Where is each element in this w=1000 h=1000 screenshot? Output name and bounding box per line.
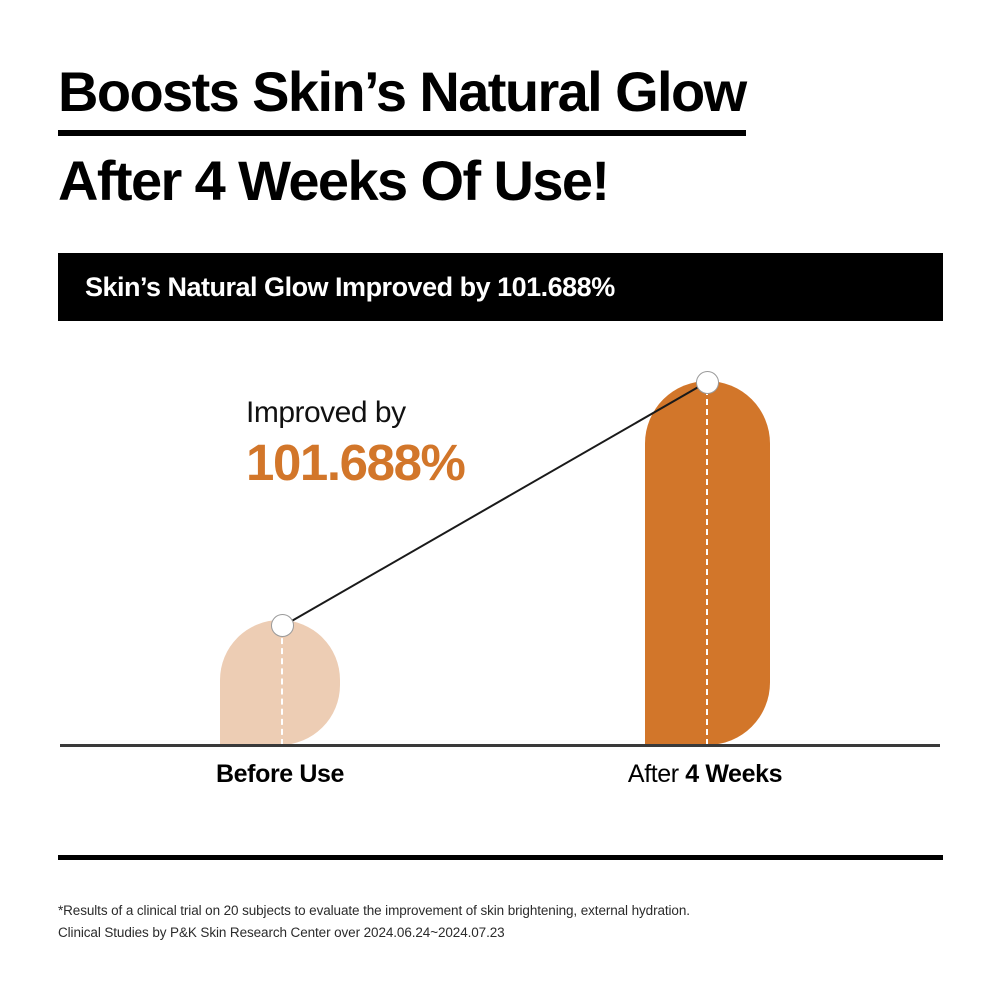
bar-before-center-dashed-line [281, 628, 283, 745]
footnote-line-2: Clinical Studies by P&K Skin Research Ce… [58, 922, 938, 944]
axis-label-after-4-weeks: After 4 Weeks [565, 760, 845, 789]
marker-after-4-weeks [696, 371, 719, 394]
bar-before-use [220, 620, 340, 745]
bar-chart: Improved by 101.688% Before Use After 4 … [0, 0, 1000, 1000]
bar-after-center-dashed-line [706, 389, 708, 745]
improvement-callout-label: Improved by [246, 396, 576, 429]
improvement-callout: Improved by 101.688% [246, 396, 576, 491]
connector-line [0, 0, 1000, 1000]
improvement-callout-value: 101.688% [246, 435, 576, 491]
footnote-line-1: *Results of a clinical trial on 20 subje… [58, 900, 938, 922]
infographic-canvas: Boosts Skin’s Natural Glow After 4 Weeks… [0, 0, 1000, 1000]
axis-label-after-strong: 4 Weeks [685, 760, 782, 788]
footer-divider [58, 855, 943, 860]
chart-baseline [60, 744, 940, 747]
footnote: *Results of a clinical trial on 20 subje… [58, 900, 938, 944]
marker-before-use [271, 614, 294, 637]
axis-label-before-use: Before Use [140, 760, 420, 789]
axis-label-after-lead: After [628, 760, 685, 788]
